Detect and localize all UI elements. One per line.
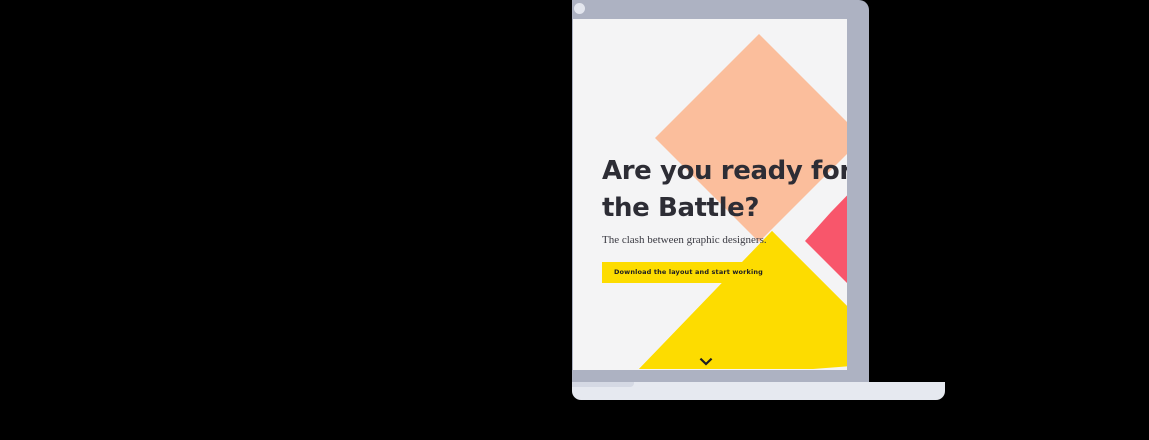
canvas: Are you ready for the Battle? The clash … xyxy=(0,0,1149,440)
laptop-screen: Are you ready for the Battle? The clash … xyxy=(573,19,847,370)
chevron-down-icon[interactable] xyxy=(699,357,713,367)
laptop-mockup: Are you ready for the Battle? The clash … xyxy=(572,0,869,390)
download-layout-button[interactable]: Download the layout and start working xyxy=(602,262,775,283)
hero-content: Are you ready for the Battle? The clash … xyxy=(602,153,847,283)
webcam-icon xyxy=(574,3,585,14)
cta-wrapper: Download the layout and start working xyxy=(602,261,775,283)
laptop-base-notch xyxy=(572,382,634,387)
page-subtitle: The clash between graphic designers. xyxy=(602,234,847,247)
page-title: Are you ready for the Battle? xyxy=(602,153,847,227)
laptop-hinge xyxy=(572,371,869,382)
